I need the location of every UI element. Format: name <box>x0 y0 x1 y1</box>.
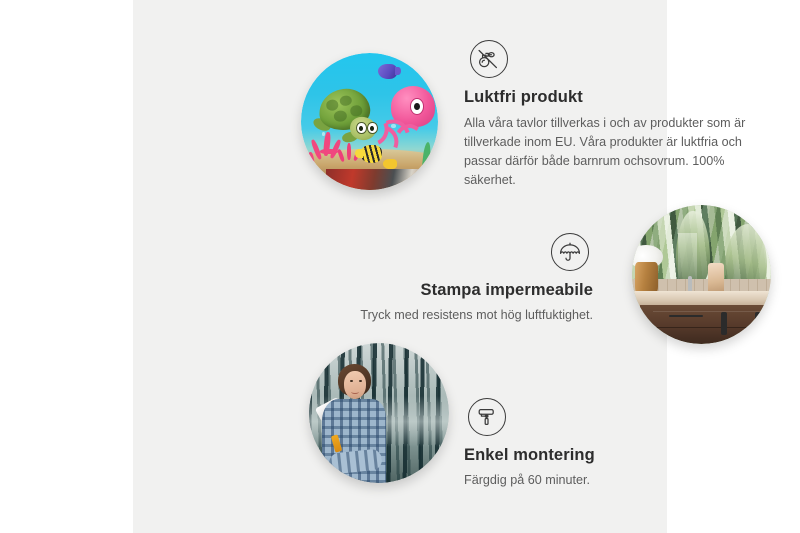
yellow-striped-fish-icon <box>360 145 382 163</box>
feature-description: Tryck med resistens mot hög luftfuktighe… <box>301 306 593 325</box>
feature-waterproof: Stampa impermeabile Tryck med resistens … <box>301 233 593 325</box>
feature-title: Luktfri produkt <box>464 87 756 108</box>
cabinet-drawer <box>653 311 763 329</box>
cabinet-door-handle <box>755 312 760 335</box>
drawer-handle <box>669 315 703 317</box>
mirror <box>678 233 697 280</box>
small-yellow-fish-icon <box>383 159 397 170</box>
feature-title: Stampa impermeabile <box>301 280 593 301</box>
underwater-cartoon-scene-photo <box>301 53 438 190</box>
woman-with-paint-roller-photo <box>309 343 449 483</box>
cabinet-door-handle <box>721 312 726 335</box>
content-panel: Luktfri produkt Alla våra tavlor tillver… <box>133 0 667 533</box>
feature-description: Färgdig på 60 minuter. <box>464 471 756 490</box>
feature-odourless: Luktfri produkt Alla våra tavlor tillver… <box>464 40 756 190</box>
no-odour-spray-bottle-icon <box>470 40 508 78</box>
feature-description: Alla våra tavlor tillverkas i och av pro… <box>464 114 756 191</box>
turtle-eye <box>367 122 378 135</box>
paint-roller-icon <box>468 398 506 436</box>
turtle-eye <box>356 122 367 135</box>
feature-highlights-page: Luktfri produkt Alla våra tavlor tillver… <box>0 0 800 533</box>
umbrella-icon <box>551 233 589 271</box>
feature-title: Enkel montering <box>464 445 756 466</box>
feature-mounting: Enkel montering Färgdig på 60 minuter. <box>464 398 756 490</box>
seabed-detail-strip <box>326 169 433 190</box>
wooden-cabinet <box>640 305 771 344</box>
soap-dispenser <box>708 263 723 294</box>
blue-fish-icon <box>378 64 397 79</box>
bathroom-vanity-photo <box>632 205 771 344</box>
woman-smile <box>351 389 359 394</box>
